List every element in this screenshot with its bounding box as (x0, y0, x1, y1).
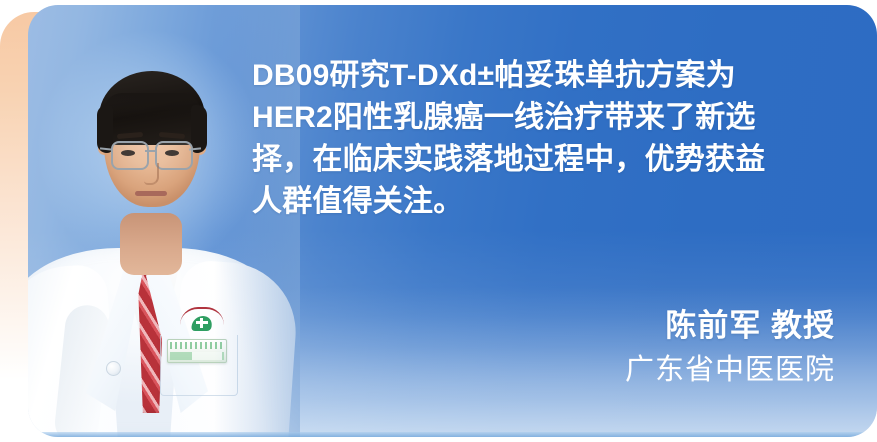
staff-name-badge (167, 339, 227, 363)
speaker-quote-card: DB09研究T-DXd±帕妥珠单抗方案为 HER2阳性乳腺癌一线治疗带来了新选 … (28, 5, 877, 437)
eyeglasses-lens-right (155, 141, 193, 170)
headline-line-4: 人群值得关注。 (252, 181, 852, 223)
hospital-logo-icon (180, 307, 224, 335)
badge-text-bottom (170, 352, 224, 360)
mouth (135, 191, 167, 196)
headline-line-3: 择，在临床实践落地过程中，优势获益 (252, 139, 852, 181)
quote-card-stage: DB09研究T-DXd±帕妥珠单抗方案为 HER2阳性乳腺癌一线治疗带来了新选 … (0, 0, 877, 442)
headline-line-1: DB09研究T-DXd±帕妥珠单抗方案为 (252, 55, 852, 97)
hair-fringe (104, 93, 200, 119)
speaker-byline: 陈前军 教授 广东省中医医院 (625, 305, 835, 393)
eyeglasses-bridge (145, 150, 155, 152)
headline-line-2: HER2阳性乳腺癌一线治疗带来了新选 (252, 97, 852, 139)
speaker-name: 陈前军 教授 (625, 305, 835, 347)
speaker-organization: 广东省中医医院 (625, 347, 835, 393)
lab-coat-button (106, 361, 121, 376)
neck (120, 213, 182, 275)
hair-side-right (191, 105, 207, 153)
medical-cross-icon-vertical (200, 318, 203, 328)
badge-text-top (170, 342, 224, 349)
headline-quote: DB09研究T-DXd±帕妥珠单抗方案为 HER2阳性乳腺癌一线治疗带来了新选 … (252, 55, 852, 223)
nose (144, 163, 159, 185)
